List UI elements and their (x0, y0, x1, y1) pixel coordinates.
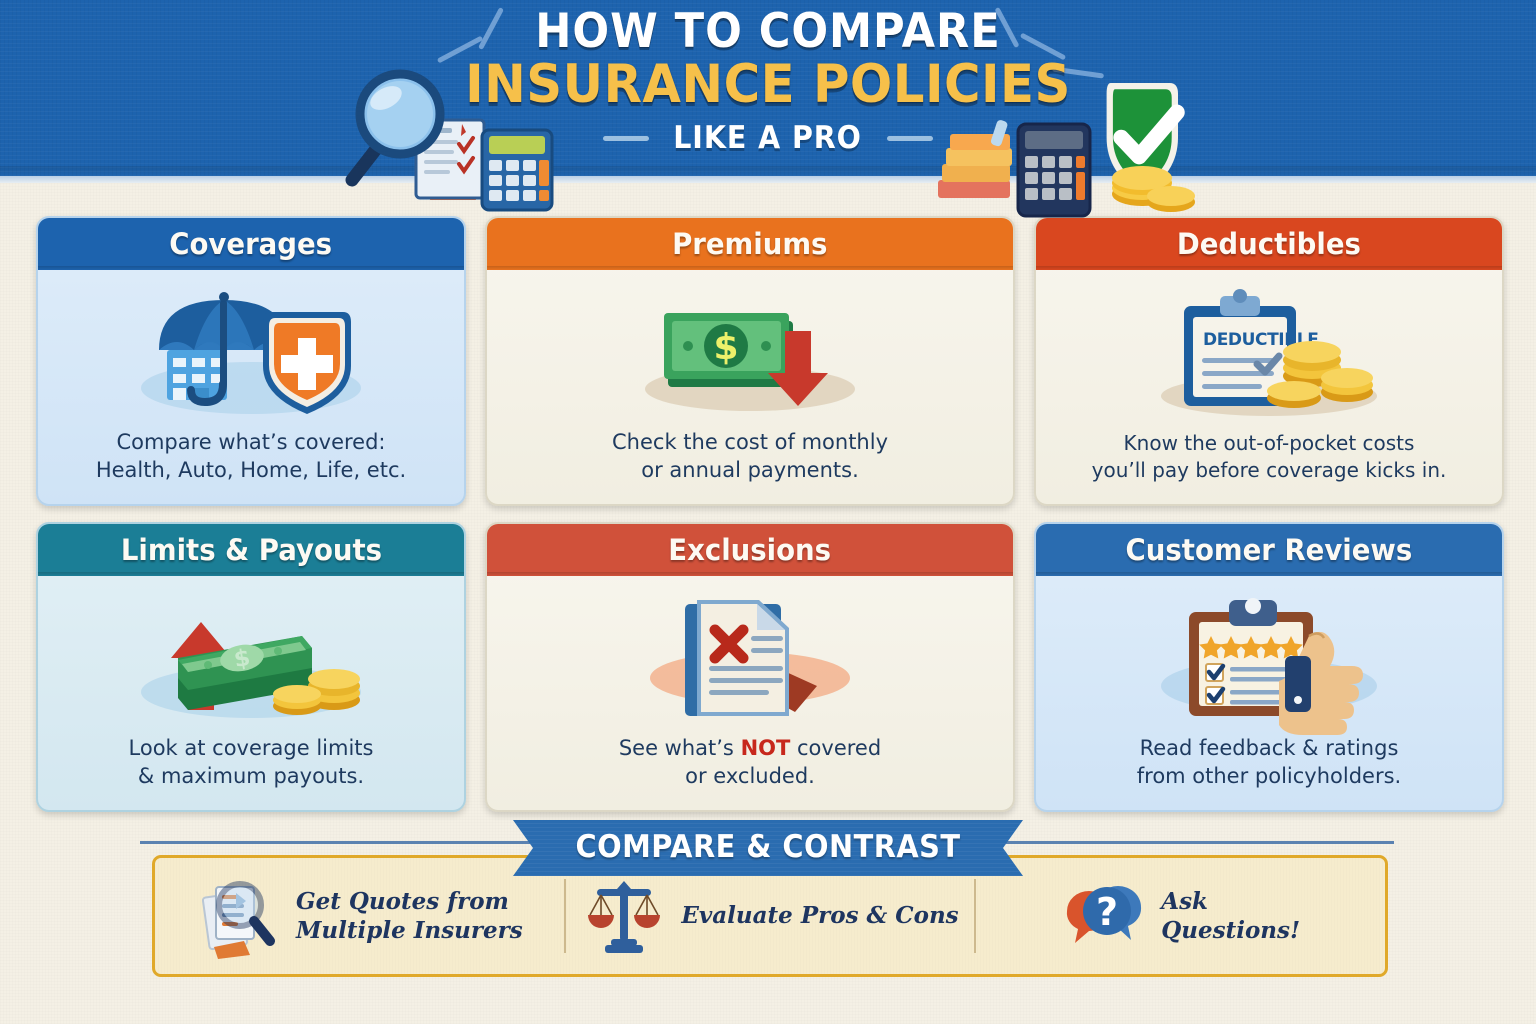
cta-item-get-quotes[interactable]: Get Quotes from Multiple Insurers (155, 858, 564, 974)
money-up-arrow-icon: $ (116, 594, 386, 726)
card-deductibles[interactable]: Deductibles DEDUCTIBLE (1034, 216, 1504, 506)
icon-area-customer-reviews (1054, 586, 1484, 734)
ribbon-label: COMPARE & CONTRAST (575, 829, 960, 865)
card-header-limits-payouts: Limits & Payouts (38, 524, 464, 576)
document-x-icon (625, 596, 875, 724)
cta-line1-bold-evaluate: Pros & Cons (801, 902, 959, 929)
card-premiums[interactable]: Premiums $ (485, 216, 1015, 506)
title-line-3: LIKE A PRO (674, 120, 863, 156)
svg-text:$: $ (713, 327, 738, 368)
title-line-2: INSURANCE POLICIES (46, 55, 1490, 114)
card-body-limits-payouts: $ Look at coverage limits & (38, 576, 464, 810)
card-desc-customer-reviews: Read feedback & ratings from other polic… (1137, 734, 1401, 794)
clipboard-coins-icon: DEDUCTIBLE (1134, 290, 1404, 420)
card-body-coverages: Compare what’s covered: Health, Auto, Ho… (38, 270, 464, 504)
cta-line1-evaluate: Evaluate (681, 902, 800, 929)
header-banner: HOW TO COMPARE INSURANCE POLICIES LIKE A… (0, 0, 1536, 176)
card-header-premiums: Premiums (487, 218, 1013, 270)
title-line-3-row: LIKE A PRO (0, 120, 1536, 156)
card-limits-payouts[interactable]: Limits & Payouts $ (36, 522, 466, 812)
card-body-customer-reviews: Read feedback & ratings from other polic… (1036, 576, 1502, 810)
compare-contrast-ribbon: COMPARE & CONTRAST (513, 820, 1023, 876)
card-header-exclusions: Exclusions (487, 524, 1013, 576)
card-exclusions[interactable]: Exclusions (485, 522, 1015, 812)
cta-line2-ask: Questions! (1161, 916, 1300, 945)
card-title-premiums: Premiums (672, 227, 827, 261)
card-desc-exclusions-line2: or excluded. (619, 762, 881, 790)
balance-scale-icon (581, 873, 667, 959)
cards-grid: Coverages (36, 216, 1504, 812)
desc-post: covered (790, 736, 881, 760)
cta-text-get-quotes: Get Quotes from Multiple Insurers (296, 887, 523, 946)
card-desc-exclusions-line1: See what’s NOT covered (619, 734, 881, 762)
icon-area-deductibles: DEDUCTIBLE (1054, 280, 1484, 430)
coins-icon (1112, 166, 1195, 212)
card-title-coverages: Coverages (170, 227, 333, 261)
card-title-exclusions: Exclusions (669, 533, 832, 567)
card-desc-limits-payouts: Look at coverage limits & maximum payout… (129, 734, 374, 794)
cta-item-ask-questions[interactable]: ? Ask Questions! (976, 858, 1385, 974)
svg-text:?: ? (1096, 890, 1118, 934)
card-body-exclusions: See what’s NOT covered or excluded. (487, 576, 1013, 810)
cta-text-evaluate-pros-cons: Evaluate Pros & Cons (681, 901, 958, 930)
desc-pre: See what’s (619, 736, 741, 760)
cta-line1-get-quotes: Get Quotes from (296, 887, 523, 916)
icon-area-coverages (56, 280, 446, 428)
review-clipboard-thumbsup-icon (1133, 594, 1405, 726)
card-coverages[interactable]: Coverages (36, 216, 466, 506)
card-title-customer-reviews: Customer Reviews (1126, 533, 1413, 567)
card-customer-reviews[interactable]: Customer Reviews (1034, 522, 1504, 812)
card-body-premiums: $ Check the cost of monthly or annual pa… (487, 270, 1013, 504)
icon-area-premiums: $ (505, 280, 995, 428)
card-header-customer-reviews: Customer Reviews (1036, 524, 1502, 576)
header-underline (0, 176, 1536, 183)
icon-area-limits-payouts: $ (56, 586, 446, 734)
header-shadow (0, 166, 1536, 176)
cta-line2-get-quotes: Multiple Insurers (296, 916, 523, 945)
cta-line1-ask: Ask (1161, 887, 1300, 916)
card-header-deductibles: Deductibles (1036, 218, 1502, 270)
card-desc-premiums: Check the cost of monthly or annual paym… (612, 428, 888, 488)
card-body-deductibles: DEDUCTIBLE (1036, 270, 1502, 504)
banknote-down-arrow-icon: $ (620, 291, 880, 416)
header-title-block: HOW TO COMPARE INSURANCE POLICIES LIKE A… (0, 8, 1536, 156)
dash-left-decor (603, 136, 649, 141)
magnifier-document-icon (196, 873, 282, 959)
dash-right-decor (887, 136, 933, 141)
card-desc-deductibles: Know the out-of-pocket costs you’ll pay … (1092, 430, 1447, 488)
speech-bubbles-question-icon: ? (1061, 873, 1147, 959)
desc-highlight: NOT (741, 736, 791, 760)
umbrella-shield-icon (111, 288, 391, 420)
card-header-coverages: Coverages (38, 218, 464, 270)
cta-text-ask-questions: Ask Questions! (1161, 887, 1300, 946)
title-line-1: HOW TO COMPARE (61, 8, 1474, 55)
card-desc-exclusions: See what’s NOT covered or excluded. (619, 734, 881, 794)
icon-area-exclusions (505, 586, 995, 734)
card-title-deductibles: Deductibles (1177, 227, 1361, 261)
card-desc-coverages: Compare what’s covered: Health, Auto, Ho… (96, 428, 406, 488)
card-title-limits-payouts: Limits & Payouts (120, 533, 381, 567)
